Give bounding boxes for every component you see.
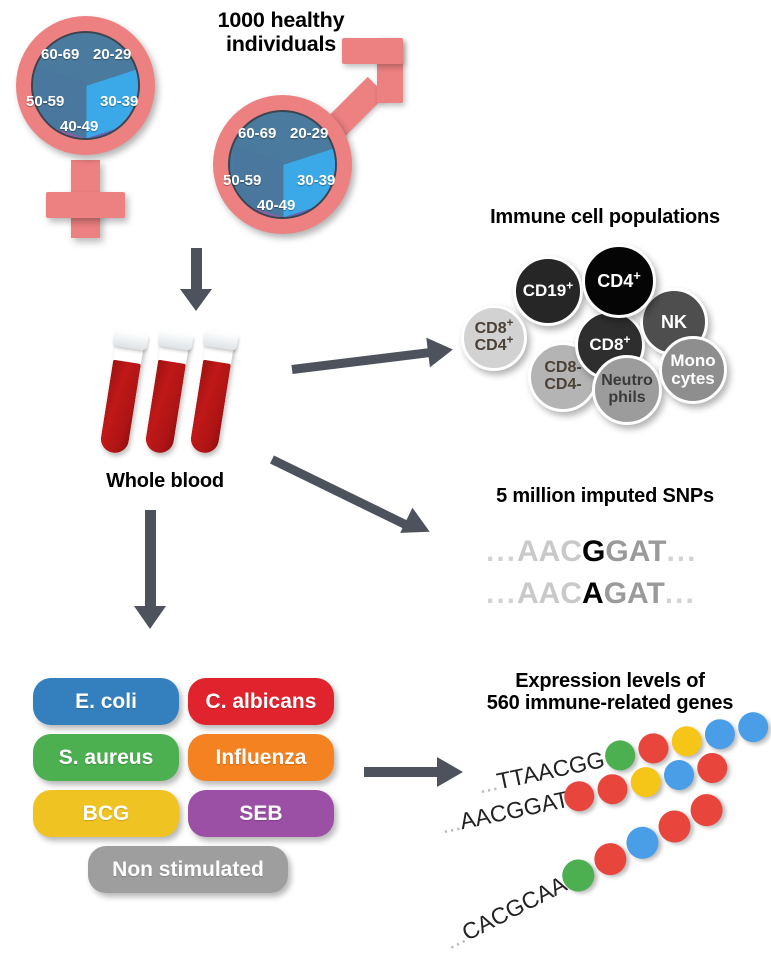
immune-heading: Immune cell populations	[455, 206, 755, 228]
expression-heading-line2: 560 immune-related genes	[455, 692, 765, 714]
gene-bead-blue	[661, 757, 697, 793]
cell-monocytes: Monocytes	[659, 336, 727, 404]
stim-label: S. aureus	[59, 746, 154, 770]
cell-label: CD4+	[597, 272, 641, 291]
cell-label: CD8+CD4+	[475, 321, 514, 355]
gene-bead-red	[636, 731, 672, 767]
cell-cd4pos: CD4+	[582, 244, 656, 318]
gene-bead-red	[694, 750, 730, 786]
gene-bead-blue	[702, 716, 738, 752]
cell-label: Monocytes	[670, 352, 715, 388]
gene-bead-yellow	[669, 723, 705, 759]
pie-label-50-59: 50-59	[26, 93, 64, 110]
expression-heading: Expression levels of 560 immune-related …	[455, 670, 765, 715]
pie-label-40-49: 40-49	[257, 197, 295, 214]
snp-prefix-dots: ...	[486, 535, 517, 568]
snp-right-bases: GAT	[604, 577, 665, 610]
whole-blood-label: Whole blood	[60, 470, 270, 492]
stim-button-non-stimulated[interactable]: Non stimulated	[88, 846, 288, 893]
pie-label-30-39: 30-39	[297, 172, 335, 189]
snp-suffix-dots: ...	[665, 577, 696, 610]
snp-variant-base: G	[582, 535, 605, 568]
snp-right-bases: GAT	[605, 535, 666, 568]
cohort-title-line1: 1000 healthy	[178, 8, 384, 32]
stim-button-e-coli[interactable]: E. coli	[33, 678, 179, 725]
stim-label: C. albicans	[206, 690, 317, 714]
cell-label: NK	[661, 313, 687, 332]
stim-label: E. coli	[75, 690, 137, 714]
pie-label-60-69: 60-69	[238, 125, 276, 142]
gene-bead-yellow	[628, 764, 664, 800]
cell-cd8pos-cd4pos: CD8+CD4+	[461, 305, 527, 371]
pie-label-60-69: 60-69	[41, 46, 79, 63]
snp-suffix-dots: ...	[666, 535, 697, 568]
male-arrow-head-horizontal	[342, 38, 403, 64]
figure-canvas: 1000 healthy individuals 20-29 30-39 40-…	[0, 0, 771, 922]
pie-label-20-29: 20-29	[93, 46, 131, 63]
stim-button-c-albicans[interactable]: C. albicans	[188, 678, 334, 725]
cell-cd19pos: CD19+	[513, 256, 583, 326]
expression-heading-line1: Expression levels of	[455, 670, 765, 692]
snp-heading: 5 million imputed SNPs	[455, 485, 755, 507]
pie-label-20-29: 20-29	[290, 125, 328, 142]
stim-label: Non stimulated	[112, 858, 264, 882]
snp-left-bases: AAC	[517, 535, 582, 568]
stim-button-s-aureus[interactable]: S. aureus	[33, 734, 179, 781]
cell-label: CD8-CD4-	[544, 360, 581, 394]
snp-variant-base: A	[582, 577, 604, 610]
snp-sequence-row: ...AACGGAT...	[486, 535, 697, 569]
stim-button-seb[interactable]: SEB	[188, 790, 334, 837]
snp-prefix-dots: ...	[486, 577, 517, 610]
cell-label: Neutrophils	[601, 373, 653, 407]
pie-label-30-39: 30-39	[100, 93, 138, 110]
pie-label-50-59: 50-59	[223, 172, 261, 189]
cell-neutrophils: Neutrophils	[592, 355, 662, 425]
gene-bead-green	[602, 738, 638, 774]
gene-bead-red	[685, 789, 728, 832]
stim-label: Influenza	[215, 746, 306, 770]
pie-label-40-49: 40-49	[60, 118, 98, 135]
stim-label: SEB	[239, 802, 282, 826]
cell-label: CD8+	[589, 336, 630, 354]
female-stem-cross	[46, 192, 125, 218]
snp-sequence-row: ...AACAGAT...	[486, 577, 696, 611]
snp-left-bases: AAC	[517, 577, 582, 610]
stim-button-influenza[interactable]: Influenza	[188, 734, 334, 781]
gene-bead-red	[595, 771, 631, 807]
stim-label: BCG	[83, 802, 130, 826]
stim-button-bcg[interactable]: BCG	[33, 790, 179, 837]
strand-sequence: ...CACGCAA	[441, 871, 572, 955]
cell-label: CD19+	[523, 282, 574, 300]
